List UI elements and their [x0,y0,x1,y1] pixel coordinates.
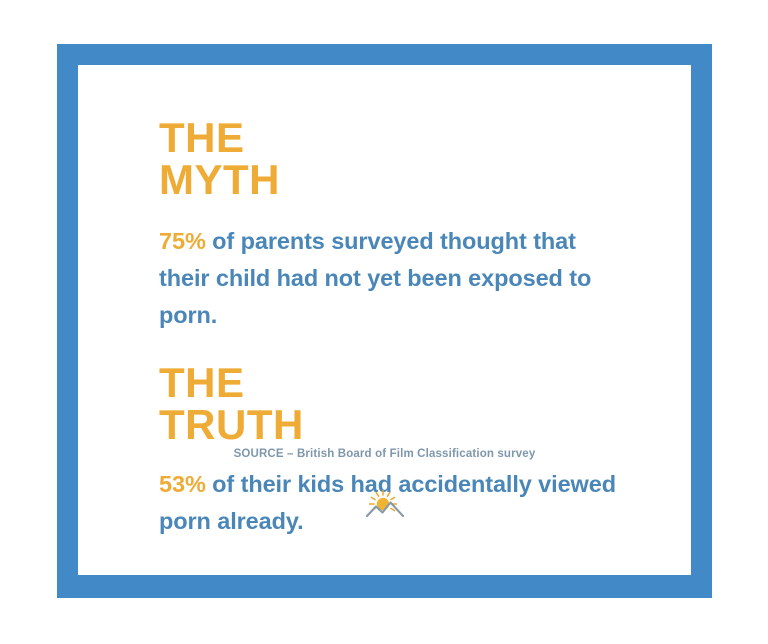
sun-over-mountains-icon [365,489,405,519]
myth-stat-percentage: 75% [159,228,206,254]
heading-truth-line-2: TRUTH [159,404,691,446]
heading-the-truth: THE TRUTH [159,362,691,446]
source-credit: SOURCE – British Board of Film Classific… [78,448,691,460]
poster-blue-frame: THE MYTH 75% of parents surveyed thought… [57,44,712,598]
poster-white-card: THE MYTH 75% of parents surveyed thought… [78,65,691,575]
myth-statement-text: of parents surveyed thought that their c… [159,228,591,328]
myth-statement: 75% of parents surveyed thought that the… [159,223,619,334]
logo-container [78,489,691,519]
heading-truth-line-1: THE [159,362,691,404]
heading-myth-line-2: MYTH [159,159,691,201]
heading-myth-line-1: THE [159,117,691,159]
heading-the-myth: THE MYTH [159,117,691,201]
